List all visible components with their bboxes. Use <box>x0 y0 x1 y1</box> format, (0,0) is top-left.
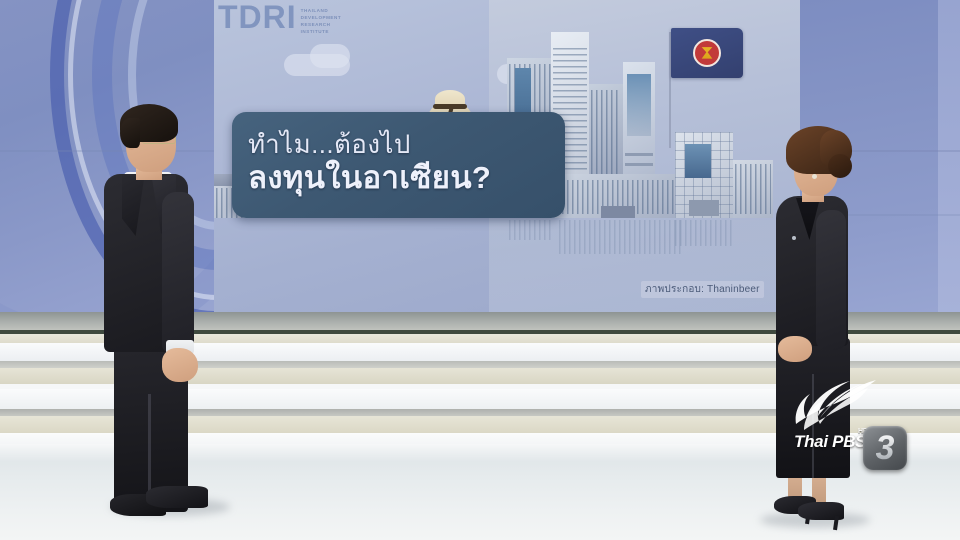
channel-number-badge: 3 <box>863 426 907 470</box>
channel-number: 3 <box>876 431 895 465</box>
guest-hair-side <box>120 118 140 148</box>
cloud-icon <box>310 44 350 68</box>
reflection-bar <box>559 220 683 254</box>
building-glass-icon <box>627 74 651 136</box>
lapel-microphone-icon <box>792 236 796 240</box>
building-entrance-icon <box>601 206 635 218</box>
host-hands <box>778 336 812 362</box>
earring-icon <box>812 174 817 179</box>
headline-line-2: ลงทุนในอาเซียน? <box>248 160 549 197</box>
host-hair-bun <box>828 154 852 178</box>
headline-banner: ทำไม...ต้องไป ลงทุนในอาเซียน? <box>232 112 565 218</box>
channel-name: Thai PBS <box>794 432 866 452</box>
backdrop-far-right-panel <box>938 0 960 318</box>
tdri-subtitle-line: THAILAND <box>301 7 341 14</box>
guest-male <box>96 104 228 514</box>
building-entrance-icon <box>689 200 719 216</box>
headline-line-1: ทำไม...ต้องไป <box>248 129 549 160</box>
asean-rice-stalks-icon <box>700 46 714 60</box>
building-windows-icon <box>591 90 621 180</box>
tdri-subtitle-line: INSTITUTE <box>301 28 341 35</box>
tdri-subtitle: THAILAND DEVELOPMENT RESEARCH INSTITUTE <box>301 2 341 35</box>
asean-emblem-icon <box>693 39 721 67</box>
building-band-icon <box>625 153 653 156</box>
channel-bug: Thai PBS HD 3 <box>790 378 910 466</box>
tdri-subtitle-line: DEVELOPMENT <box>301 14 341 21</box>
guest-hands <box>162 348 198 382</box>
host-arm <box>816 210 846 350</box>
asean-flag-icon <box>671 28 743 78</box>
tdri-logo: TDRI THAILAND DEVELOPMENT RESEARCH INSTI… <box>218 2 341 35</box>
guest-shoe-right <box>146 486 208 508</box>
host-female <box>754 124 880 528</box>
reflection-bar <box>675 220 733 246</box>
guest-arm <box>162 192 194 354</box>
reflection-bar <box>509 220 553 240</box>
broadcast-screenshot: TDRI THAILAND DEVELOPMENT RESEARCH INSTI… <box>0 0 960 540</box>
image-credit: ภาพประกอบ: Thaninbeer <box>641 281 764 298</box>
tdri-wordmark: TDRI <box>218 2 297 32</box>
tdri-subtitle-line: RESEARCH <box>301 21 341 28</box>
building-glass-icon <box>685 144 711 178</box>
building-band-icon <box>625 163 653 166</box>
